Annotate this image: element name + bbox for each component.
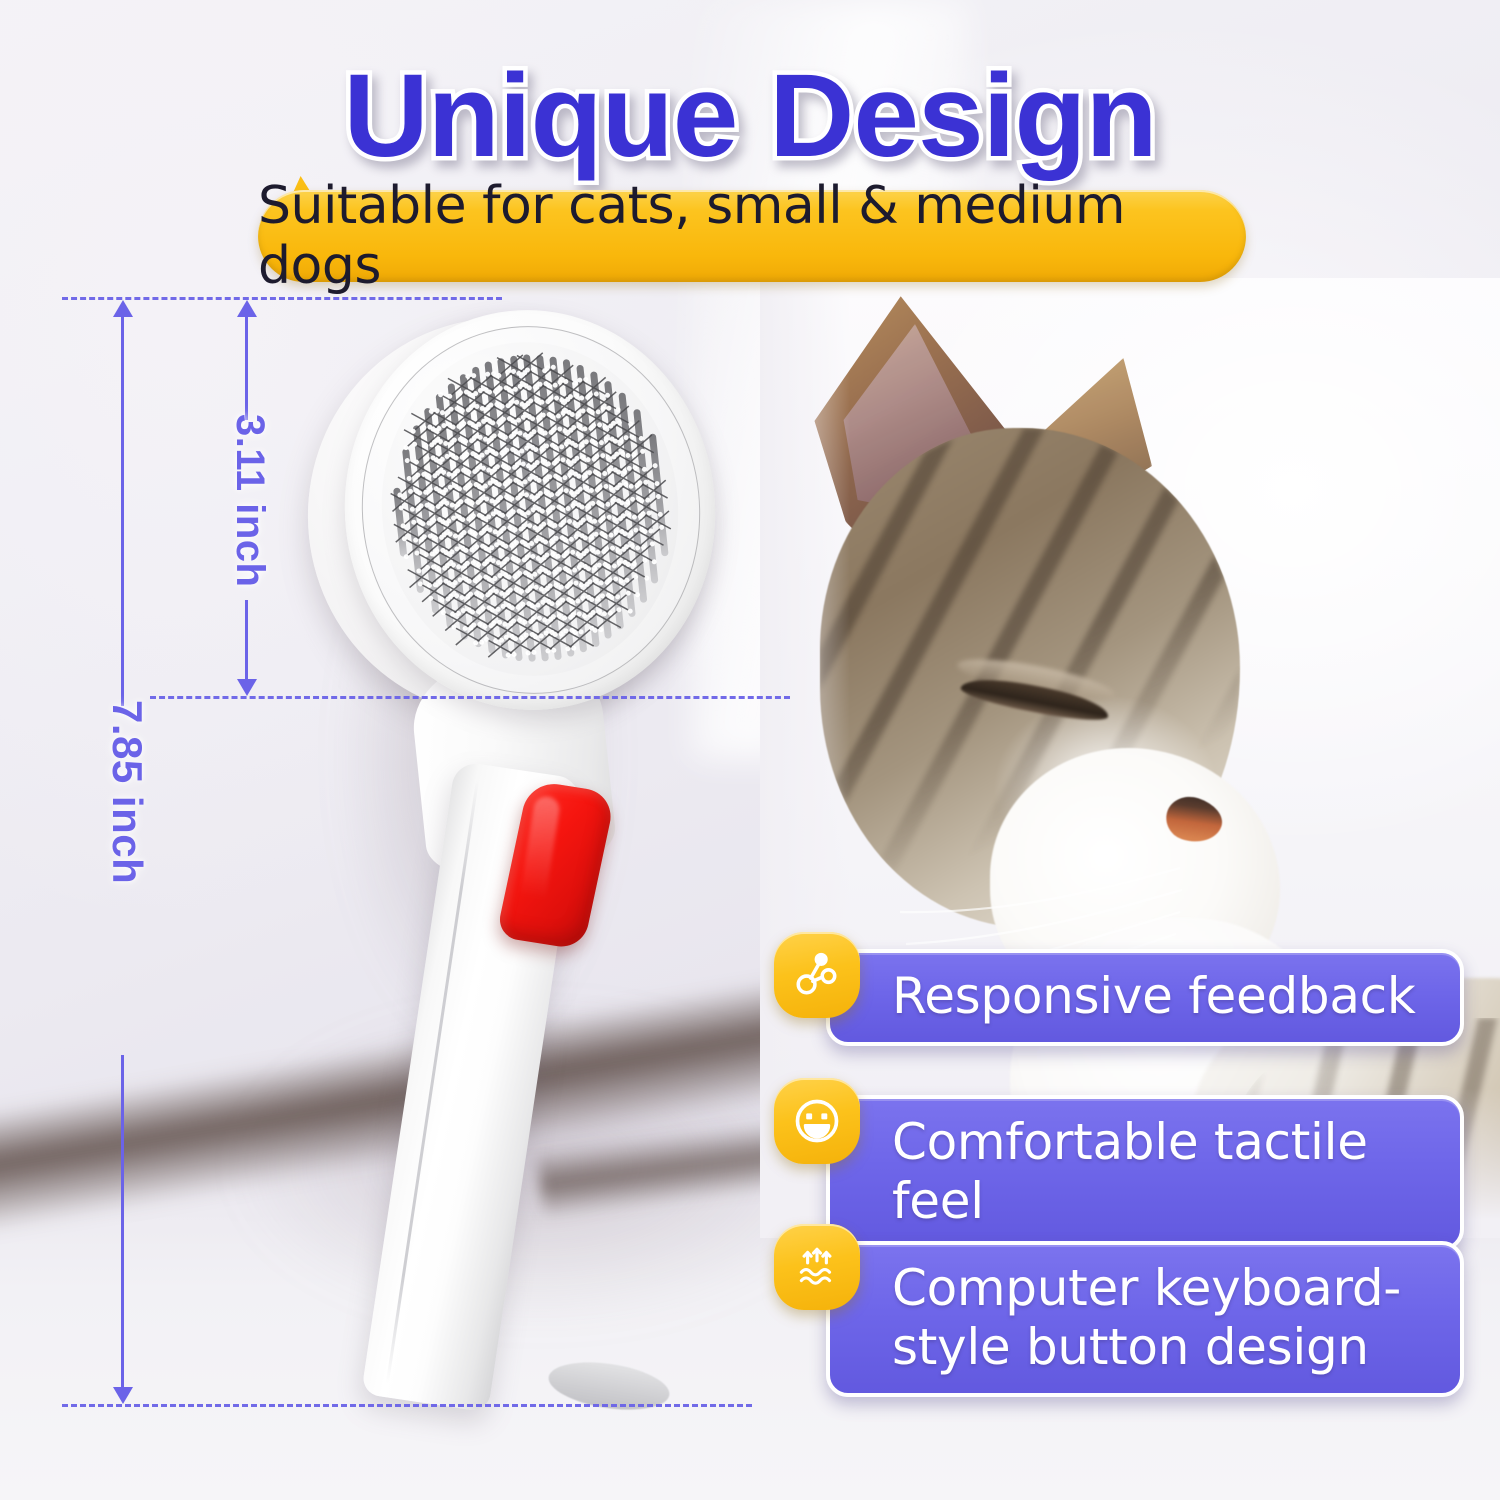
airflow-arrows-icon — [774, 1224, 860, 1310]
subtitle-banner: Suitable for cats, small & medium dogs — [258, 190, 1246, 282]
feature-pill: Comfortable tactile feel — [826, 1095, 1464, 1251]
feature-item-keyboard-style-button: Computer keyboard-style button design — [774, 1224, 1464, 1397]
feature-item-responsive-feedback: Responsive feedback — [774, 932, 1464, 1046]
feature-item-comfortable-tactile-feel: Comfortable tactile feel — [774, 1078, 1464, 1251]
share-nodes-icon — [774, 932, 860, 1018]
feature-label: Comfortable tactile feel — [830, 1099, 1460, 1247]
feature-label: Computer keyboard-style button design — [830, 1245, 1460, 1393]
feature-pill: Responsive feedback — [826, 949, 1464, 1046]
infographic-canvas: 7.85 inch 3.11 inch Unique Design Suitab… — [0, 0, 1500, 1500]
grooming-brush-product — [290, 300, 760, 1420]
feature-label: Responsive feedback — [830, 953, 1442, 1042]
page-title: Unique Design — [0, 48, 1500, 184]
smiley-face-icon — [774, 1078, 860, 1164]
banner-label: Suitable for cats, small & medium dogs — [258, 176, 1246, 296]
feature-pill: Computer keyboard-style button design — [826, 1241, 1464, 1397]
banner-body: Suitable for cats, small & medium dogs — [258, 190, 1246, 282]
